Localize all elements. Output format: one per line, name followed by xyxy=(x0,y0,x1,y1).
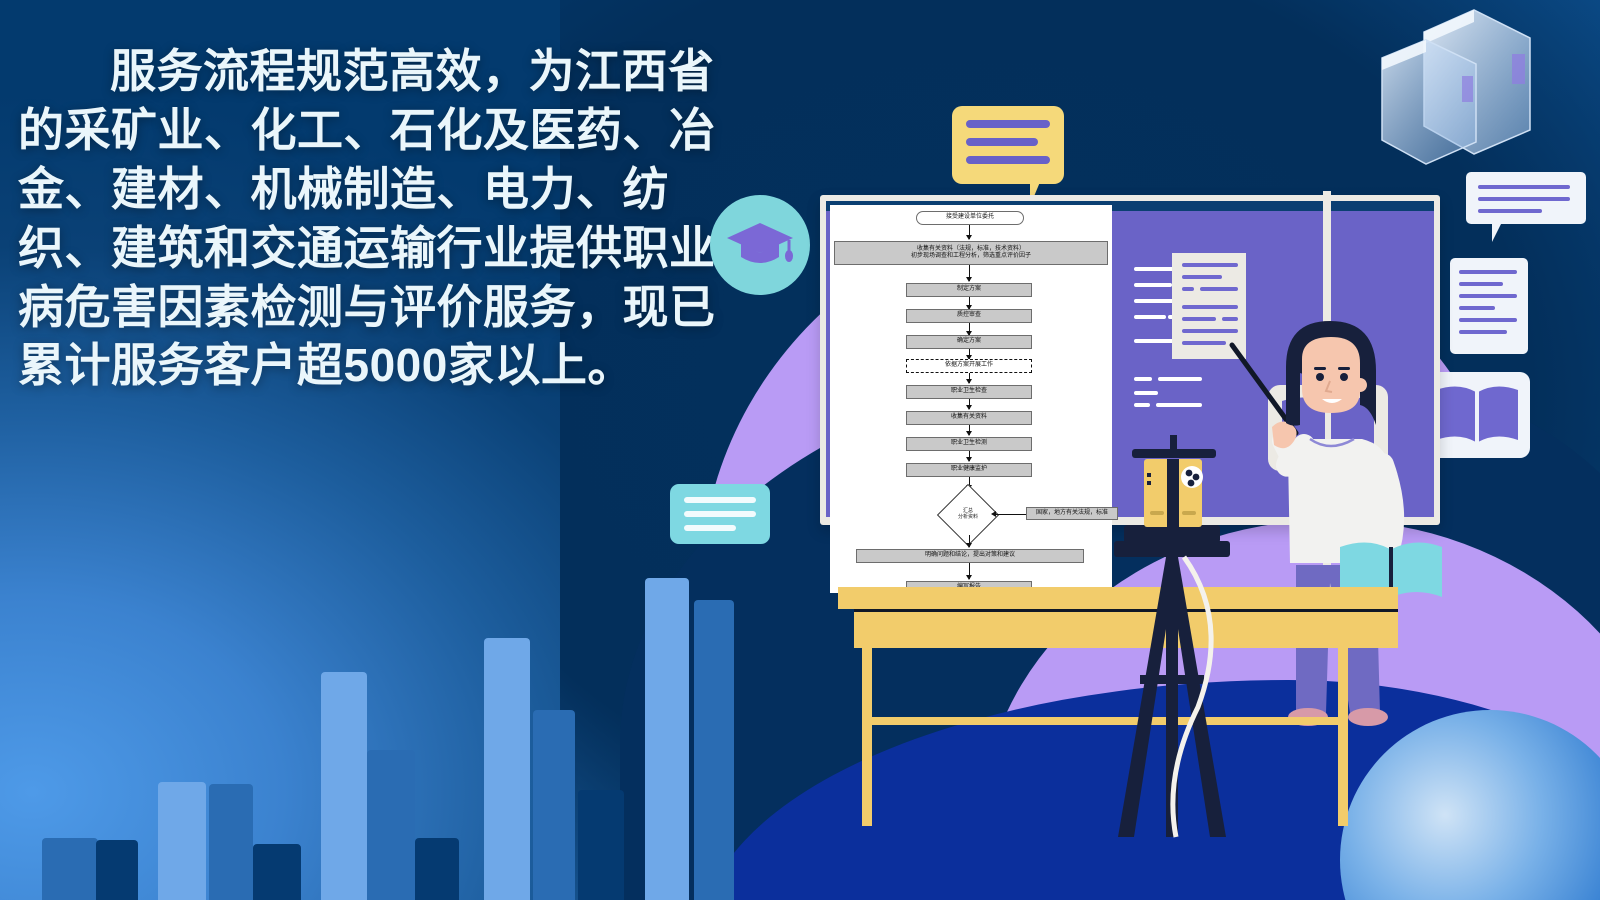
flow-arrowhead xyxy=(966,543,972,548)
poster-canvas: 服务流程规范高效，为江西省 的采矿业、化工、石化及医药、冶 金、建材、机械制造、… xyxy=(0,0,1600,900)
doc-line xyxy=(1459,306,1495,310)
headline-line-6: 累计服务客户超5000家以上。 xyxy=(18,336,778,395)
flow-node-n2: 收集有关资料（法规，标准，技术资料） 初步现场调查和工程分析，筛选重点评价因子 xyxy=(834,241,1108,265)
bar-4 xyxy=(209,784,253,900)
flow-node-n6: 依据方案开展工作 xyxy=(906,359,1032,373)
headline-text: 服务流程规范高效，为江西省 的采矿业、化工、石化及医药、冶 金、建材、机械制造、… xyxy=(18,42,778,395)
flow-arrowhead xyxy=(966,277,972,282)
headline-line-1: 服务流程规范高效，为江西省 xyxy=(18,42,778,101)
flow-node-n1: 接受建设单位委托 xyxy=(916,211,1024,225)
floating-document-tail xyxy=(1492,222,1502,242)
doc-line xyxy=(1478,197,1570,201)
bubble-line xyxy=(684,525,736,531)
graduation-cap-icon xyxy=(725,217,795,273)
doc-line xyxy=(1459,282,1503,286)
bar-6 xyxy=(321,672,367,900)
flow-arrowhead xyxy=(991,511,996,517)
paper-line xyxy=(1182,275,1222,279)
flow-arrowhead xyxy=(966,235,972,240)
bubble-line xyxy=(966,120,1050,128)
doc-line xyxy=(1478,209,1542,213)
floating-document-card-2 xyxy=(1450,258,1528,354)
bar-11 xyxy=(578,790,624,900)
bar-9 xyxy=(484,638,530,900)
bar-10 xyxy=(533,710,575,900)
flow-node-n10: 职业健康监护 xyxy=(906,463,1032,477)
board-chalk-line xyxy=(1134,283,1172,287)
headline-line-2: 的采矿业、化工、石化及医药、冶 xyxy=(18,101,778,160)
doc-line xyxy=(1478,185,1570,189)
headline-line-3: 金、建材、机械制造、电力、纺 xyxy=(18,160,778,219)
board-chalk-line xyxy=(1134,377,1152,381)
flow-arrowhead xyxy=(966,575,972,580)
flow-node-n3: 制定方案 xyxy=(906,283,1032,297)
paper-line xyxy=(1182,263,1238,267)
flow-node-n13: 明确问题和结论，提出对策和建议 xyxy=(856,549,1084,563)
bar-8 xyxy=(415,838,459,900)
glass-books-decoration xyxy=(1372,2,1592,192)
teal-speech-bubble xyxy=(670,484,770,544)
doc-line xyxy=(1459,270,1517,274)
bubble-line xyxy=(684,497,756,503)
flow-node-n8: 收集有关资料 xyxy=(906,411,1032,425)
board-chalk-line xyxy=(1134,391,1158,395)
projector-on-tripod xyxy=(1088,407,1258,847)
flow-node-n9: 职业卫生检测 xyxy=(906,437,1032,451)
doc-line xyxy=(1459,330,1507,334)
doc-line xyxy=(1459,294,1517,298)
headline-line-4: 织、建筑和交通运输行业提供职业 xyxy=(18,219,778,278)
yellow-speech-bubble xyxy=(952,106,1064,184)
doc-line xyxy=(1459,318,1517,322)
flow-node-n7: 职业卫生检查 xyxy=(906,385,1032,399)
flow-arrowhead xyxy=(966,457,972,462)
floating-document-card xyxy=(1466,172,1586,224)
bar-5 xyxy=(253,844,301,900)
bar-2 xyxy=(96,840,138,900)
bar-1 xyxy=(42,838,98,900)
flow-node-n4: 质控审查 xyxy=(906,309,1032,323)
bubble-line xyxy=(966,156,1050,164)
flowchart-panel: 接受建设单位委托 收集有关资料（法规，标准，技术资料） 初步现场调查和工程分析，… xyxy=(830,205,1112,593)
flow-arrowhead xyxy=(966,379,972,384)
paper-line xyxy=(1182,305,1238,309)
graduation-cap-badge xyxy=(710,195,810,295)
board-chalk-line xyxy=(1134,315,1166,319)
paper-line xyxy=(1200,287,1238,291)
bar-12 xyxy=(645,578,689,900)
bar-7 xyxy=(367,750,415,900)
paper-line xyxy=(1182,287,1194,291)
flow-arrowhead xyxy=(966,405,972,410)
books-icon xyxy=(1372,2,1592,192)
flow-node-n5: 确定方案 xyxy=(906,335,1032,349)
bubble-line xyxy=(966,138,1038,146)
classroom-scene: 接受建设单位委托 收集有关资料（法规，标准，技术资料） 初步现场调查和工程分析，… xyxy=(820,195,1440,535)
bubble-line xyxy=(684,511,756,517)
headline-line-5: 病危害因素检测与评价服务，现已 xyxy=(18,278,778,337)
flow-arrowhead xyxy=(966,431,972,436)
board-chalk-line xyxy=(1158,377,1202,381)
bar-13 xyxy=(694,600,734,900)
flow-arrow-h xyxy=(996,514,1026,515)
bar-3 xyxy=(158,782,206,900)
